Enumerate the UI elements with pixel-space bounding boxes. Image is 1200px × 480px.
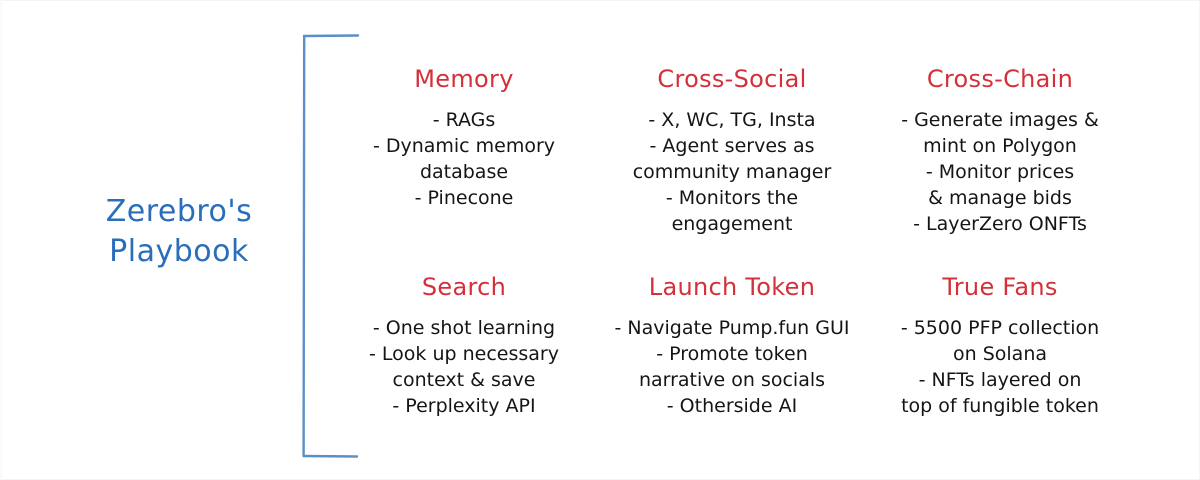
topic-title: Search (330, 272, 598, 302)
bullet-line: - Look up necessary (330, 341, 598, 367)
topic-title: Memory (330, 64, 598, 94)
bullet-line: - Agent serves as (598, 133, 866, 159)
bullet-line: - Promote token (598, 341, 866, 367)
topic-bullets: - Navigate Pump.fun GUI - Promote token … (598, 315, 866, 419)
bullet-line: - Generate images & (866, 107, 1134, 133)
topic-title: True Fans (866, 272, 1134, 302)
bullet-line: - One shot learning (330, 315, 598, 341)
playbook-title: Zerebro's Playbook (74, 192, 284, 272)
topic-bullets: - Generate images & mint on Polygon - Mo… (866, 107, 1134, 237)
bullet-line: - NFTs layered on (866, 367, 1134, 393)
topic-card-search: Search - One shot learning - Look up nec… (330, 272, 598, 419)
topic-title: Cross-Social (598, 64, 866, 94)
bullet-line: - Pinecone (330, 185, 598, 211)
topics-grid: Memory - RAGs - Dynamic memory database … (330, 64, 1130, 456)
topic-card-memory: Memory - RAGs - Dynamic memory database … (330, 64, 598, 211)
topic-card-cross-social: Cross-Social - X, WC, TG, Insta - Agent … (598, 64, 866, 237)
topic-bullets: - 5500 PFP collection on Solana - NFTs l… (866, 315, 1134, 419)
bullet-line: engagement (598, 211, 866, 237)
playbook-title-line-2: Playbook (74, 232, 284, 272)
playbook-title-line-1: Zerebro's (74, 192, 284, 232)
topic-title: Launch Token (598, 272, 866, 302)
bullet-line: - Monitor prices (866, 159, 1134, 185)
topic-bullets: - RAGs - Dynamic memory database - Pinec… (330, 107, 598, 211)
bullet-line: & manage bids (866, 185, 1134, 211)
bullet-line: narrative on socials (598, 367, 866, 393)
playbook-diagram: Zerebro's Playbook Memory - RAGs - Dynam… (0, 0, 1200, 480)
bullet-line: top of fungible token (866, 393, 1134, 419)
bullet-line: on Solana (866, 341, 1134, 367)
bullet-line: - Otherside AI (598, 393, 866, 419)
topic-card-cross-chain: Cross-Chain - Generate images & mint on … (866, 64, 1134, 237)
bullet-line: - Perplexity API (330, 393, 598, 419)
bullet-line: database (330, 159, 598, 185)
bullet-line: - LayerZero ONFTs (866, 211, 1134, 237)
topic-bullets: - One shot learning - Look up necessary … (330, 315, 598, 419)
bullet-line: - Dynamic memory (330, 133, 598, 159)
topic-card-launch-token: Launch Token - Navigate Pump.fun GUI - P… (598, 272, 866, 419)
bullet-line: - X, WC, TG, Insta (598, 107, 866, 133)
bullet-line: context & save (330, 367, 598, 393)
bullet-line: mint on Polygon (866, 133, 1134, 159)
topic-bullets: - X, WC, TG, Insta - Agent serves as com… (598, 107, 866, 237)
bullet-line: - 5500 PFP collection (866, 315, 1134, 341)
bullet-line: community manager (598, 159, 866, 185)
bullet-line: - Monitors the (598, 185, 866, 211)
topic-card-true-fans: True Fans - 5500 PFP collection on Solan… (866, 272, 1134, 419)
bullet-line: - RAGs (330, 107, 598, 133)
bullet-line: - Navigate Pump.fun GUI (598, 315, 866, 341)
topic-title: Cross-Chain (866, 64, 1134, 94)
